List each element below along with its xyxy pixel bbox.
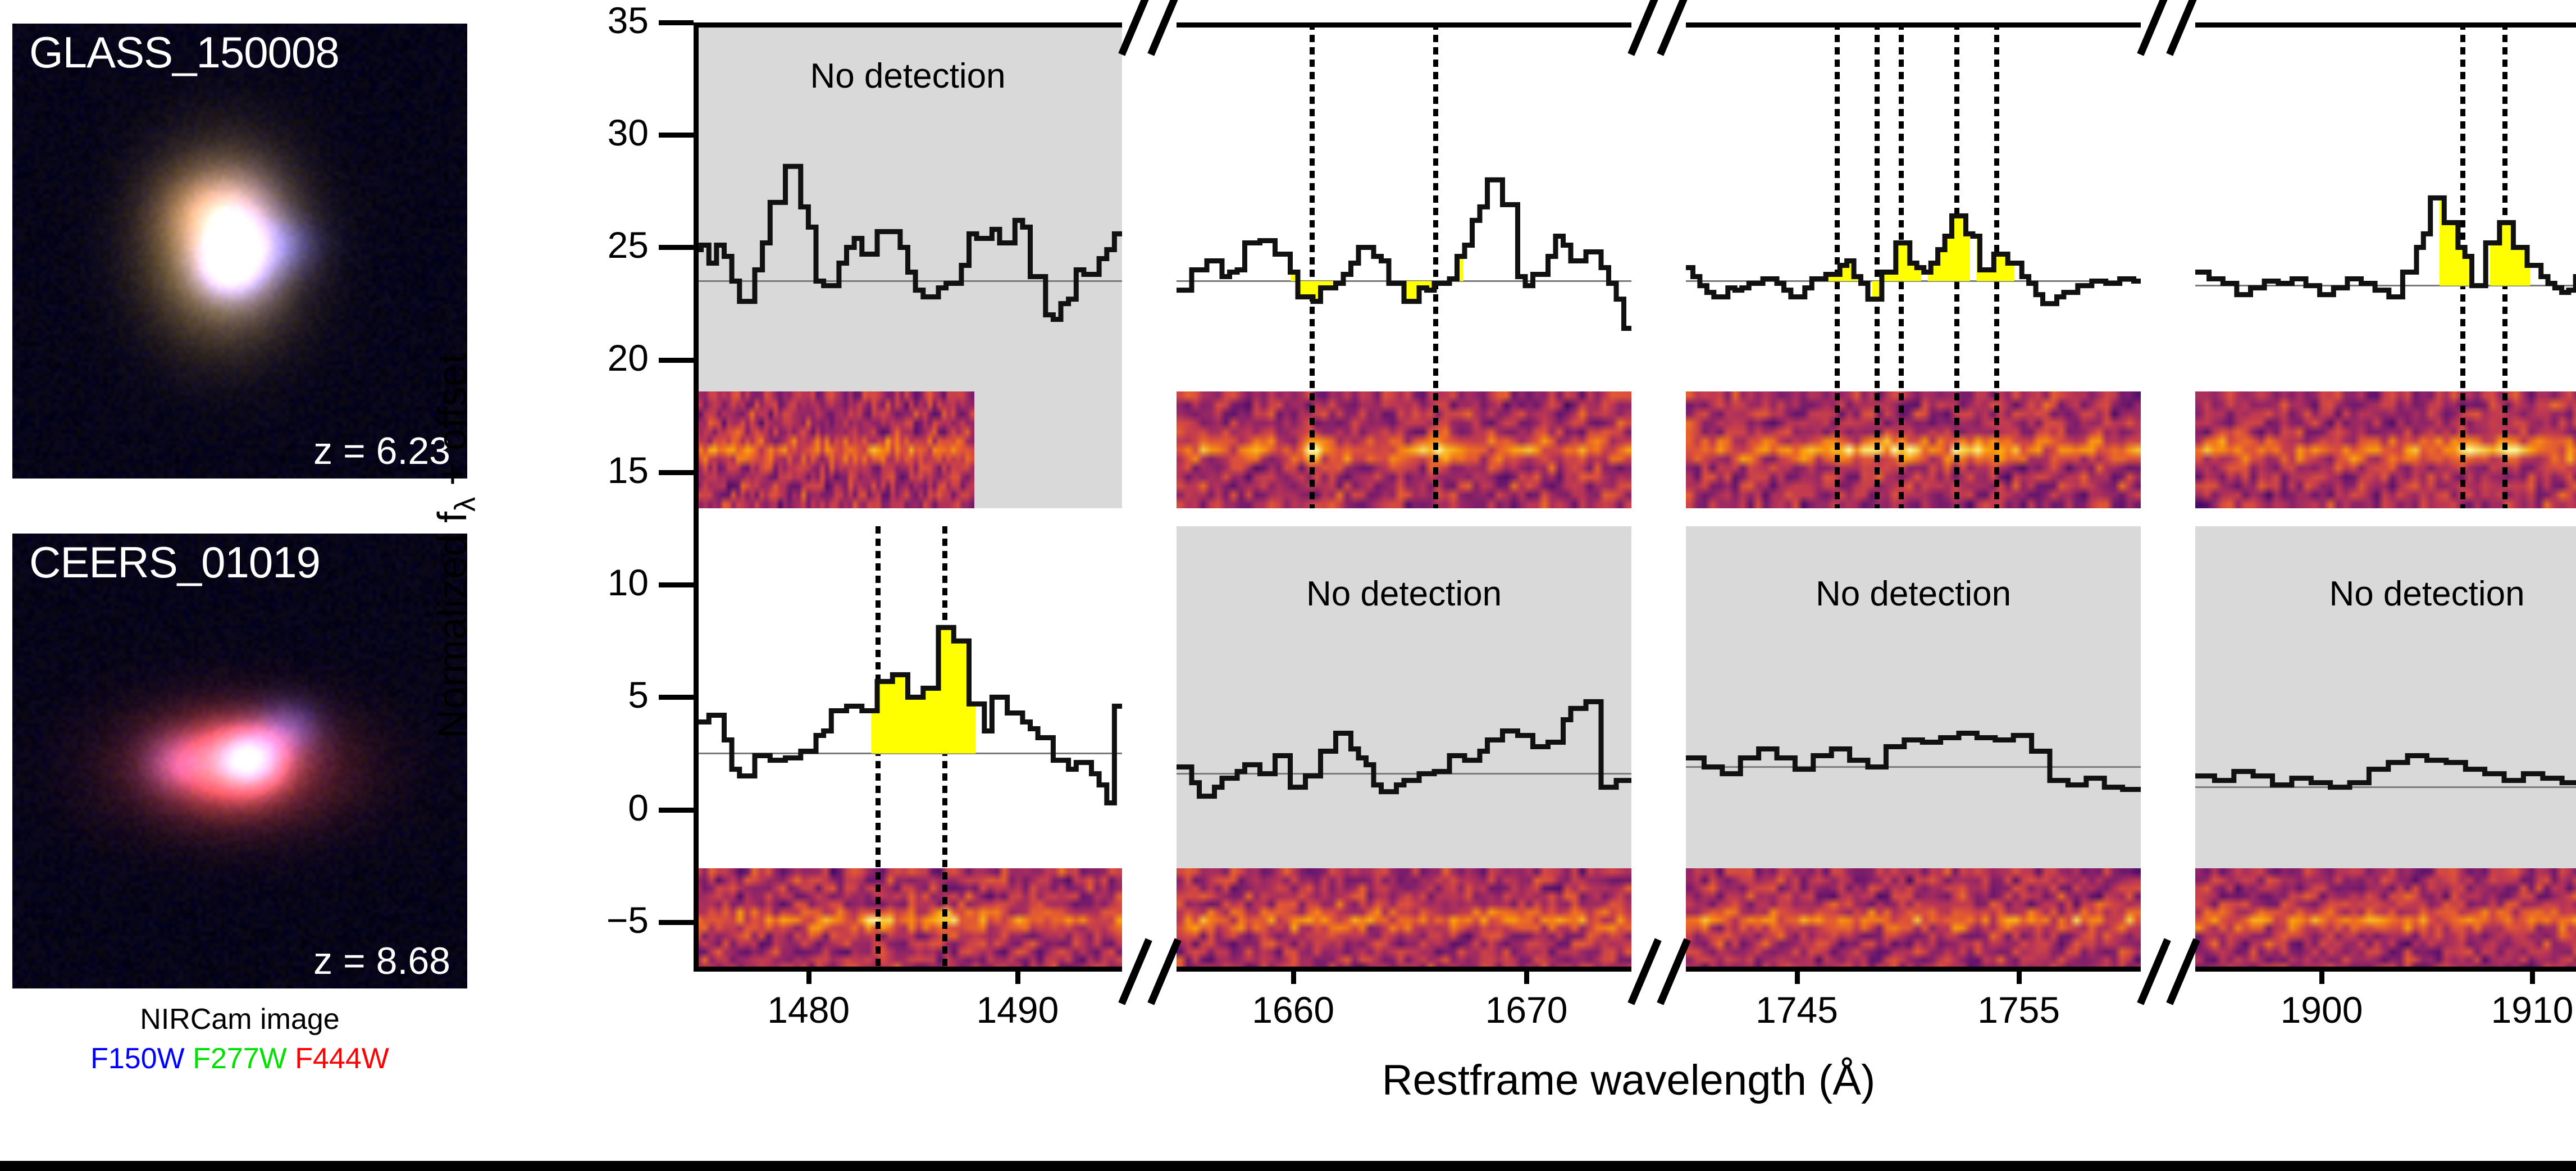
spectrum-trace	[694, 22, 1122, 972]
y-tick-label: −5	[469, 899, 649, 941]
x-tick	[1291, 972, 1296, 984]
x-tick-label: 1900	[2249, 988, 2395, 1031]
filter-label-f444w: F444W	[295, 1042, 389, 1075]
x-tick-label: 1910	[2459, 988, 2576, 1031]
y-tick-label: 35	[469, 0, 649, 42]
x-tick-label: 1480	[736, 988, 882, 1031]
y-tick	[659, 358, 694, 363]
x-tick-label: 1670	[1453, 988, 1599, 1031]
x-tick	[2530, 972, 2535, 984]
spectrum-step-line	[2195, 756, 2576, 787]
filter-label-f277w: F277W	[193, 1042, 287, 1075]
cutout-redshift-label: z = 8.68	[313, 939, 450, 983]
spectra-plot: NIV]No detection14801490OIII]No detectio…	[694, 22, 2564, 972]
axis-break-slash	[1627, 938, 1661, 1005]
nircam-caption: NIRCam image	[12, 1003, 467, 1036]
nircam-filter-legend: F150W F277W F444W	[12, 1042, 467, 1076]
y-tick-label: 0	[469, 786, 649, 829]
x-axis-label: Restframe wavelength (Å)	[694, 1056, 2564, 1105]
axis-break-slash	[1118, 0, 1152, 56]
y-tick	[659, 20, 694, 25]
y-tick-label: 5	[469, 673, 649, 716]
filter-label-f150w: F150W	[90, 1042, 185, 1075]
y-tick	[659, 808, 694, 813]
x-tick	[1795, 972, 1800, 984]
axis-break-slash	[2166, 938, 2200, 1005]
y-tick-label: 10	[469, 561, 649, 604]
x-tick	[2017, 972, 2022, 984]
spectral-panel-ciii: CIII]No detection	[2195, 22, 2576, 972]
spectral-panel-niii: NIII]No detection	[1686, 22, 2141, 972]
nircam-cutout-ceers-01019: CEERS_01019 z = 8.68	[12, 534, 467, 988]
axis-break-slash	[1627, 0, 1661, 56]
nircam-cutout-glass-150008: GLASS_150008 z = 6.23	[12, 24, 467, 479]
panel-left-edge	[694, 22, 699, 972]
spectrum-step-line	[1177, 701, 1631, 796]
cutout-object-name: CEERS_01019	[29, 537, 320, 588]
y-tick	[659, 582, 694, 587]
y-axis-label-text: Normalized f	[430, 512, 475, 739]
y-tick	[659, 245, 694, 250]
y-axis-label: Normalized fλ + offset	[430, 353, 481, 739]
spectral-panel-oiii: OIII]No detection	[1177, 22, 1631, 972]
y-tick	[659, 470, 694, 475]
cutout-object-name: GLASS_150008	[29, 27, 339, 78]
x-tick-label: 1490	[945, 988, 1091, 1031]
x-tick	[2319, 972, 2324, 984]
x-tick-label: 1660	[1220, 988, 1366, 1031]
y-tick-label: 25	[469, 224, 649, 266]
y-tick	[659, 920, 694, 925]
spectrum-trace	[2195, 22, 2576, 972]
axis-break-slash	[2137, 938, 2171, 1005]
y-tick	[659, 133, 694, 138]
x-tick	[1524, 972, 1529, 984]
axis-break-slash	[2137, 0, 2171, 56]
y-tick-label: 15	[469, 449, 649, 491]
axis-break-slash	[1147, 938, 1181, 1005]
cutout-image-ceers	[12, 534, 467, 988]
x-tick-label: 1745	[1724, 988, 1870, 1031]
y-tick-label: 20	[469, 336, 649, 379]
spectrum-trace	[1177, 22, 1631, 972]
spectrum-step-line	[1686, 733, 2141, 790]
y-axis-label-subscript: λ	[448, 497, 481, 512]
figure-bottom-rule	[0, 1161, 2576, 1171]
spectrum-trace	[1686, 22, 2141, 972]
x-tick-label: 1755	[1946, 988, 2092, 1031]
axis-break-slash	[1118, 938, 1152, 1005]
y-tick	[659, 695, 694, 700]
axis-break-slash	[1657, 938, 1690, 1005]
y-axis-label-suffix: + offset	[430, 353, 475, 497]
y-tick-label: 30	[469, 111, 649, 154]
figure-root: GLASS_150008 z = 6.23 CEERS_01019 z = 8.…	[0, 0, 2576, 1171]
x-tick	[1015, 972, 1020, 984]
cutout-image-glass	[12, 24, 467, 479]
x-tick	[806, 972, 811, 984]
spectral-panel-niv: NIV]No detection	[694, 22, 1122, 972]
